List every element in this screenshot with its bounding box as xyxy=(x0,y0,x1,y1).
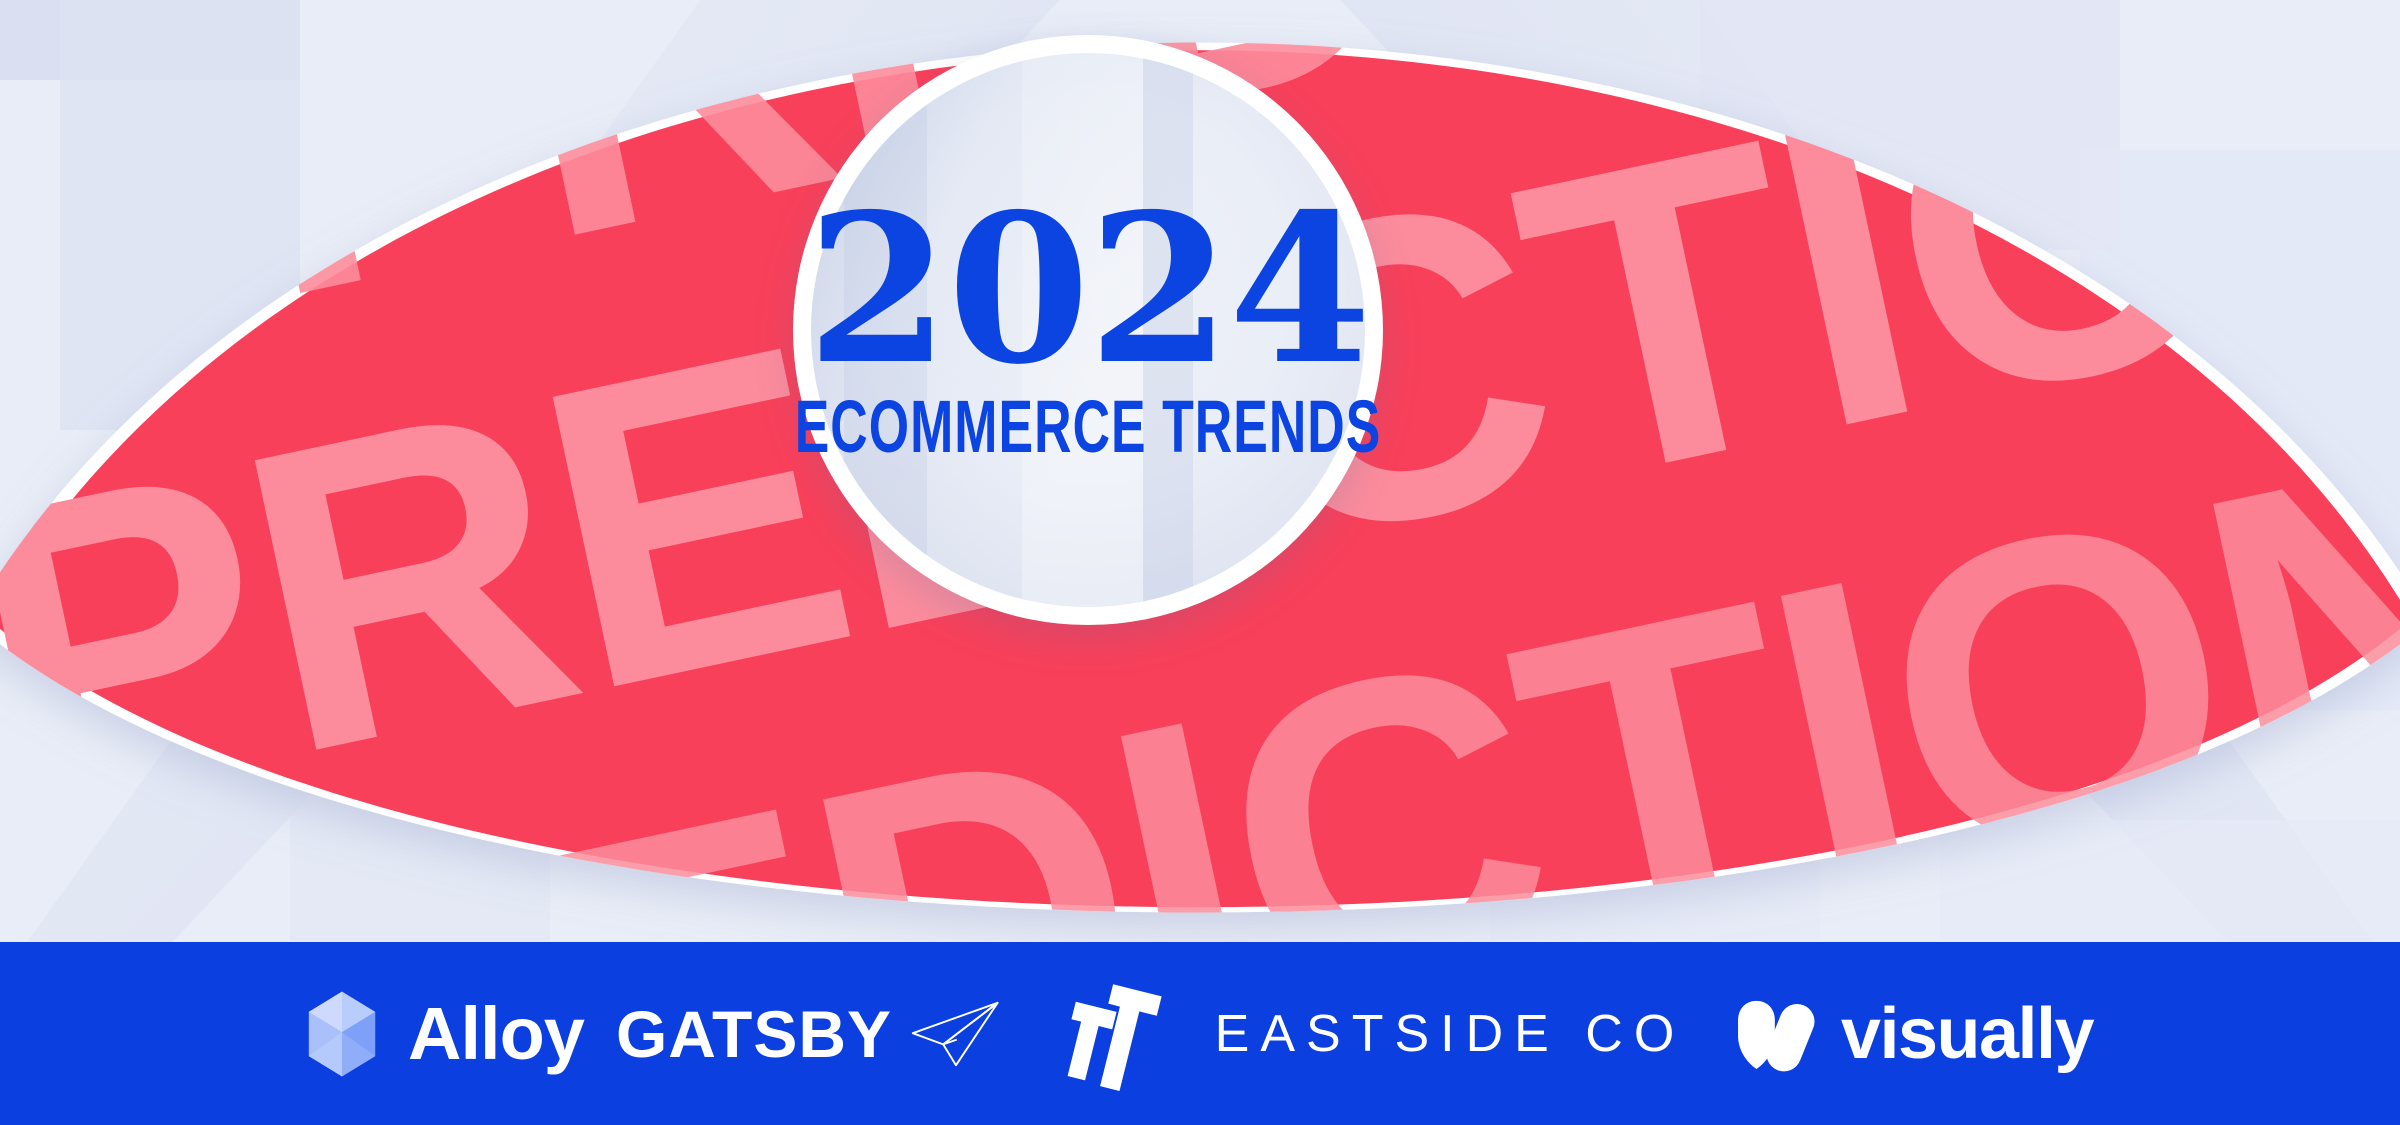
tt-monogram-icon xyxy=(1055,969,1165,1099)
center-circle-face xyxy=(811,53,1365,607)
logo-alloy-label: Alloy xyxy=(408,991,584,1076)
logo-gatsby[interactable]: GATSBY xyxy=(610,942,1010,1125)
logo-eastside[interactable]: EASTSIDE CO xyxy=(1210,942,1690,1125)
logo-tt[interactable] xyxy=(1010,942,1210,1125)
logo-eastside-label: EASTSIDE CO xyxy=(1215,1004,1686,1064)
logo-visually[interactable]: visually xyxy=(1690,942,2130,1125)
paper-plane-icon xyxy=(908,998,1004,1070)
logo-visually-label: visually xyxy=(1841,993,2093,1075)
alloy-polyhedron-icon xyxy=(296,988,388,1080)
logo-gatsby-label: GATSBY xyxy=(616,996,892,1072)
logo-alloy[interactable]: Alloy xyxy=(270,942,610,1125)
partner-logo-bar: Alloy GATSBY xyxy=(0,942,2400,1125)
visually-heart-icon xyxy=(1727,988,1819,1080)
poster-canvas: PREDICTIONS PREDICTIONS PREDICTIONS 2024… xyxy=(0,0,2400,1125)
